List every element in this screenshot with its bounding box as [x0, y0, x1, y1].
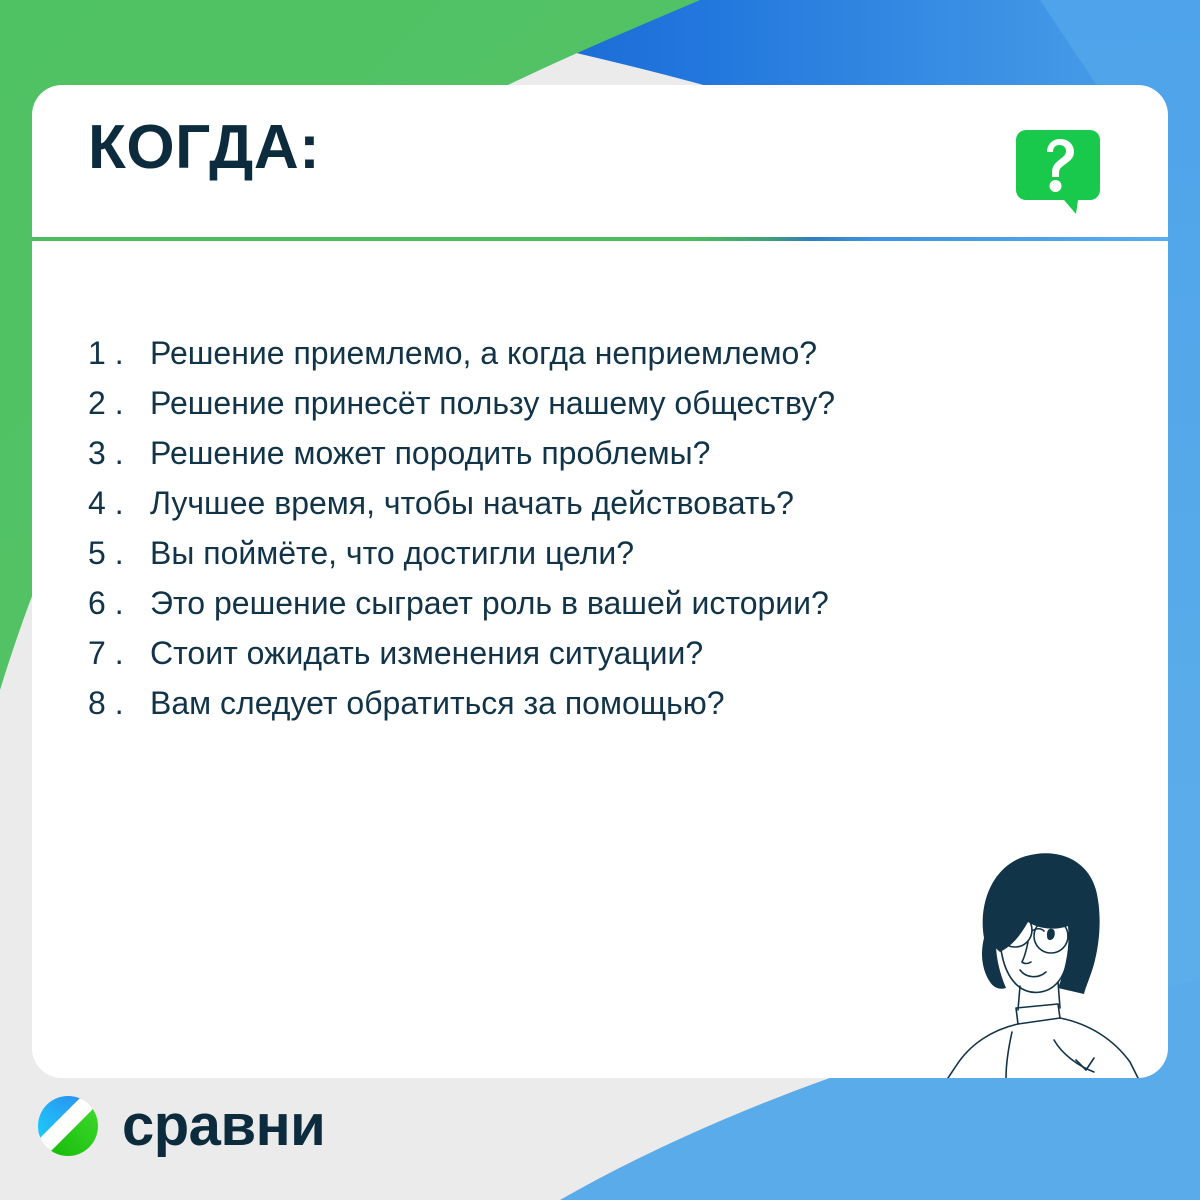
list-item-number: 3 .: [88, 428, 150, 478]
question-list: 1 . Решение приемлемо, а когда неприемле…: [88, 328, 1088, 728]
list-item-text: Это решение сыграет роль в вашей истории…: [150, 578, 829, 628]
list-item-text: Решение приемлемо, а когда неприемлемо?: [150, 328, 817, 378]
list-item-number: 4 .: [88, 478, 150, 528]
list-item-number: 7 .: [88, 628, 150, 678]
question-speech-bubble-icon: [1016, 130, 1100, 214]
poster-canvas: КОГДА: 1 . Решение приемлемо, а когда не…: [0, 0, 1200, 1200]
list-item-number: 8 .: [88, 678, 150, 728]
list-item-text: Стоит ожидать изменения ситуации?: [150, 628, 703, 678]
list-item-number: 1 .: [88, 328, 150, 378]
brand-name: сравни: [122, 1096, 325, 1156]
list-item: 6 . Это решение сыграет роль в вашей ист…: [88, 578, 1088, 628]
card-header: КОГДА:: [32, 85, 1168, 237]
list-item-number: 6 .: [88, 578, 150, 628]
list-item: 8 . Вам следует обратиться за помощью?: [88, 678, 1088, 728]
header-divider: [32, 237, 1168, 241]
list-item-text: Решение принесёт пользу нашему обществу?: [150, 378, 835, 428]
list-item-text: Решение может породить проблемы?: [150, 428, 710, 478]
content-card: КОГДА: 1 . Решение приемлемо, а когда не…: [32, 85, 1168, 1078]
list-item: 1 . Решение приемлемо, а когда неприемле…: [88, 328, 1088, 378]
list-item-text: Лучшее время, чтобы начать действовать?: [150, 478, 794, 528]
page-title: КОГДА:: [88, 111, 320, 185]
list-item-text: Вы поймёте, что достигли цели?: [150, 528, 634, 578]
list-item: 5 . Вы поймёте, что достигли цели?: [88, 528, 1088, 578]
list-item: 4 . Лучшее время, чтобы начать действова…: [88, 478, 1088, 528]
brand-logo: сравни: [36, 1090, 325, 1162]
list-item: 2 . Решение принесёт пользу нашему общес…: [88, 378, 1088, 428]
list-item-text: Вам следует обратиться за помощью?: [150, 678, 725, 728]
list-item-number: 5 .: [88, 528, 150, 578]
sravni-circle-logo-icon: [36, 1094, 100, 1158]
list-item: 7 . Стоит ожидать изменения ситуации?: [88, 628, 1088, 678]
list-item-number: 2 .: [88, 378, 150, 428]
list-item: 3 . Решение может породить проблемы?: [88, 428, 1088, 478]
woman-with-glasses-illustration: [908, 818, 1168, 1078]
